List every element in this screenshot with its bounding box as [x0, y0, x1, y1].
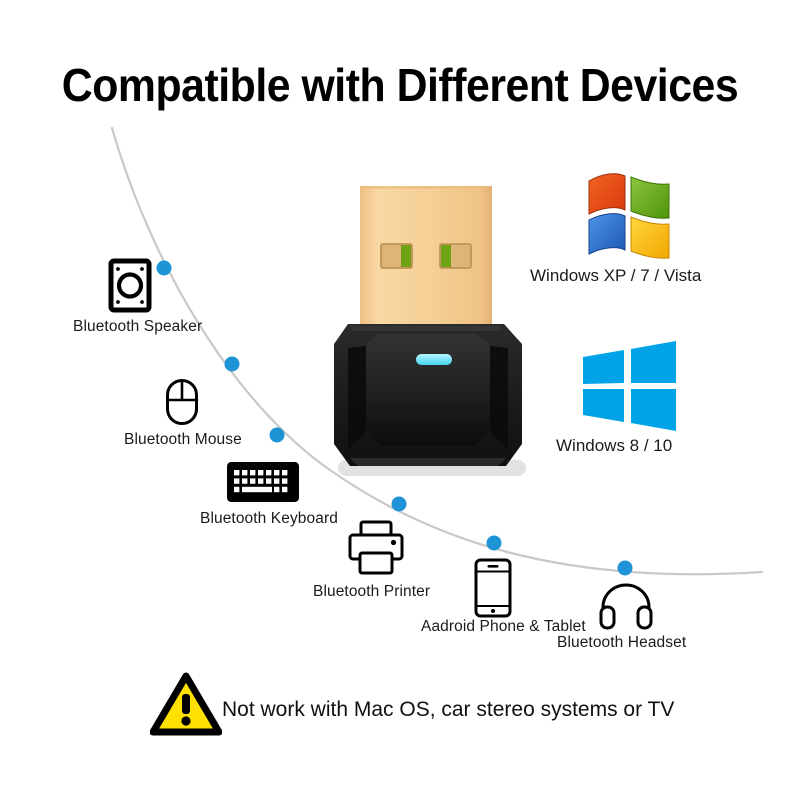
- bluetooth-usb-dongle: [318, 168, 558, 498]
- node-dot-speaker: [157, 261, 172, 276]
- device-label-keyboard: Bluetooth Keyboard: [200, 510, 338, 528]
- mouse-icon: [165, 378, 199, 431]
- node-dot-mouse: [225, 357, 240, 372]
- warning-text: Not work with Mac OS, car stereo systems…: [222, 698, 674, 722]
- device-label-speaker: Bluetooth Speaker: [73, 318, 202, 336]
- node-dot-printer: [392, 497, 407, 512]
- node-dot-keyboard: [270, 428, 285, 443]
- device-label-printer: Bluetooth Printer: [313, 583, 430, 601]
- device-label-mouse: Bluetooth Mouse: [124, 431, 242, 449]
- infographic-canvas: Compatible with Different Devices Blueto…: [0, 0, 800, 800]
- node-dot-headset: [618, 561, 633, 576]
- os-label-windows-modern: Windows 8 / 10: [556, 436, 672, 456]
- page-title: Compatible with Different Devices: [28, 58, 772, 112]
- keyboard-icon: [227, 462, 299, 507]
- phone-tablet-icon: [474, 558, 512, 623]
- printer-icon: [347, 520, 405, 581]
- windows-classic-logo: [577, 168, 681, 267]
- node-dot-phone: [487, 536, 502, 551]
- warning-triangle-icon: [150, 672, 222, 741]
- speaker-icon: [108, 258, 152, 318]
- device-label-headset: Bluetooth Headset: [557, 634, 686, 652]
- windows-modern-logo: [577, 340, 681, 437]
- headset-icon: [597, 582, 655, 635]
